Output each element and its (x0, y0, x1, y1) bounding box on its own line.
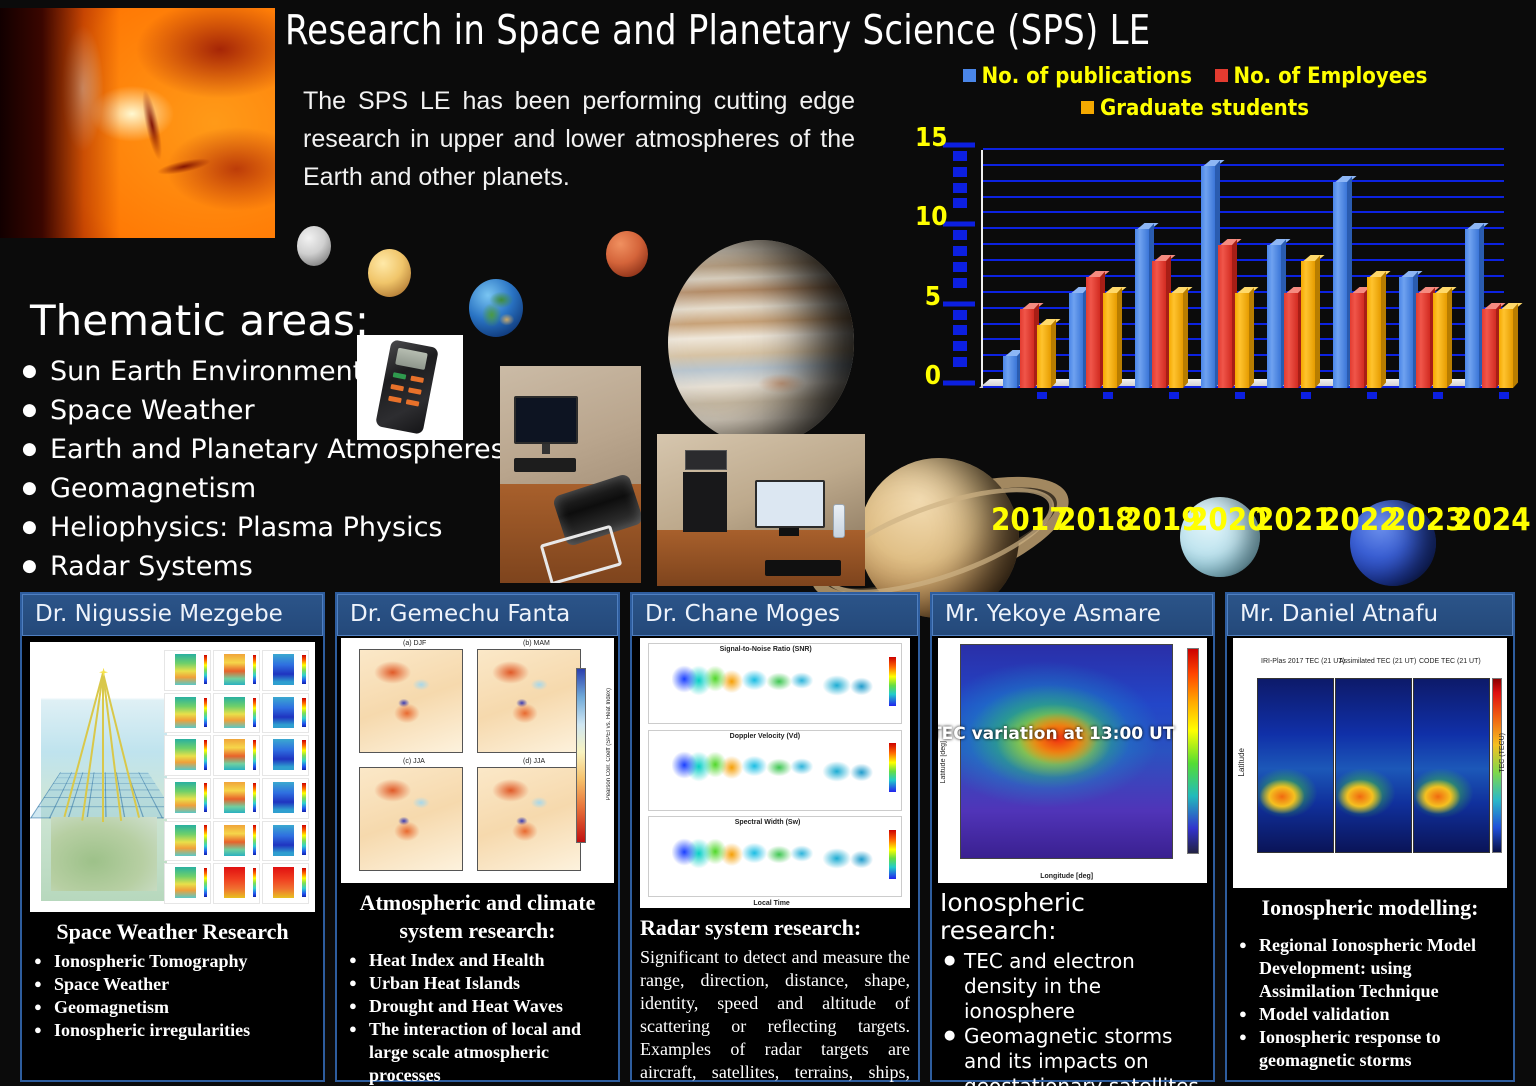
y-axis-tick-label: 5 (915, 282, 941, 312)
venus-image (368, 249, 411, 297)
subplot-title-2: Assimilated TEC (21 UT) (1339, 658, 1416, 665)
list-item: Ionospheric response to geomagnetic stor… (1235, 1026, 1505, 1072)
monitor-stand (779, 528, 799, 536)
scatter-data (672, 743, 878, 792)
bar-group (1003, 303, 1054, 388)
list-item: Regional Ionospheric Model Development: … (1235, 934, 1505, 1003)
tile (164, 735, 211, 776)
monitor-stand (542, 444, 550, 454)
panel-paragraph: Significant to detect and measure the ra… (640, 946, 910, 1086)
colorbar-label: Pearson Corr. Coeff (SPEI vs. Heat Index… (606, 688, 612, 800)
jupiter-image (668, 240, 854, 445)
y-axis-tick-mark (943, 222, 975, 227)
x-axis-label: 2017 (991, 502, 1061, 538)
chart-bars-region (983, 150, 1504, 388)
sun-image (0, 8, 275, 238)
x-axis-tick-mark (1169, 392, 1179, 399)
colorbar (889, 830, 896, 879)
colorbar (889, 743, 896, 792)
panel-body: Space Weather Research Ionospheric Tomog… (22, 912, 323, 1080)
colorbar (1187, 648, 1199, 854)
publications-chart: No. of publications No. of Employees Gra… (865, 62, 1515, 462)
list-item: Urban Heat Islands (345, 972, 610, 995)
figure-xlabel: Longitude [deg] (1040, 873, 1093, 880)
y-axis-tick-mark (943, 143, 975, 148)
intro-paragraph: The SPS LE has been performing cutting e… (303, 82, 855, 196)
figure-caption-d: (d) JJA (523, 758, 545, 765)
figure-caption-b: (b) MAM (523, 640, 550, 647)
radar-subplot-doppler: Doppler Velocity (Vd) (648, 730, 902, 811)
panel-header: Dr. Nigussie Mezgebe (22, 594, 323, 636)
ray-beam (102, 673, 104, 822)
sun-limb (0, 8, 120, 238)
legend-swatch-yellow (1081, 101, 1094, 114)
bar-employees (1416, 287, 1430, 388)
tile (262, 650, 309, 691)
colorbar (889, 657, 896, 706)
keyboard (514, 458, 576, 472)
legend-item-employees: No. of Employees (1215, 62, 1428, 92)
meter-button (393, 372, 407, 379)
panel-body-title: Space Weather Research (30, 918, 315, 946)
bar-employees (1152, 255, 1166, 388)
space-weather-figure (30, 642, 315, 912)
list-item: Geomagnetism (30, 996, 315, 1019)
panel-nigussie-mezgebe[interactable]: Dr. Nigussie Mezgebe (20, 592, 325, 1082)
x-axis-tick-mark (1037, 392, 1047, 399)
tec-map-assimilated (1335, 678, 1412, 853)
lab-instrument-photo (500, 366, 641, 583)
bar-publications (1465, 223, 1479, 388)
africa-map-a (359, 649, 463, 753)
x-axis-tick-mark (1235, 392, 1245, 399)
bar-employees (1020, 303, 1034, 388)
tec-figure: Longitude [deg] Latitude [deg] TEC varia… (938, 638, 1207, 883)
bar-publications (1135, 223, 1149, 388)
panel-chane-moges[interactable]: Dr. Chane Moges Signal-to-Noise Ratio (S… (630, 592, 920, 1082)
panel-body-title: Atmospheric and climate system research: (345, 889, 610, 945)
africa-map-b (477, 649, 581, 753)
y-axis-tick-mark (953, 198, 967, 208)
bar-graduate-students (1169, 287, 1183, 388)
monitor (755, 480, 825, 528)
bar-publications (1069, 287, 1083, 388)
chart-plot-area: 051015 20172018201920202021202220232024 (923, 150, 1508, 412)
tile (213, 863, 260, 904)
panel-gemechu-fanta[interactable]: Dr. Gemechu Fanta (a) DJF (b) MAM (c) JJ… (335, 592, 620, 1082)
tile (262, 778, 309, 819)
bar-group (1333, 176, 1384, 388)
africa-map-c (359, 767, 463, 871)
y-axis-tick-label: 10 (915, 202, 941, 232)
bar-employees (1284, 287, 1298, 388)
y-axis-tick-mark (953, 167, 967, 177)
x-axis-label: 2018 (1057, 502, 1127, 538)
tec-map-code (1413, 678, 1490, 853)
y-axis-tick-mark (953, 310, 967, 320)
chart-legend: No. of publications No. of Employees Gra… (905, 62, 1485, 126)
tomography-grid (30, 772, 178, 818)
x-axis-tick-mark (1301, 392, 1311, 399)
y-axis-tick-mark (953, 246, 967, 256)
list-item: Ionospheric irregularities (30, 1019, 315, 1042)
legend-label: Graduate students (1100, 96, 1309, 121)
subplot-title: Signal-to-Noise Ratio (SNR) (720, 646, 812, 653)
panel-body: Atmospheric and climate system research:… (337, 883, 618, 1086)
tile (164, 778, 211, 819)
keyboard (765, 560, 841, 576)
bar-group (1267, 239, 1318, 388)
tec-overlay-label: TEC variation at 13:00 UT (938, 724, 1174, 744)
workstation-photo (657, 434, 865, 586)
bar-employees (1086, 271, 1100, 388)
bar-graduate-students (1235, 287, 1249, 388)
x-axis-label: 2020 (1189, 502, 1259, 538)
list-item: Geomagnetic storms and its impacts on ge… (940, 1024, 1205, 1086)
y-axis-line (981, 150, 983, 388)
list-item: Ionospheric Tomography (30, 950, 315, 973)
y-axis-tick-mark (943, 381, 975, 386)
bar-employees (1350, 287, 1364, 388)
ionospheric-model-figure: IRI-Plas 2017 TEC (21 UT) Assimilated TE… (1233, 638, 1507, 888)
tile (262, 863, 309, 904)
list-item: Model validation (1235, 1003, 1505, 1026)
y-axis-tick-mark (953, 341, 967, 351)
scatter-data (672, 657, 878, 706)
tile (262, 693, 309, 734)
panel-bullets: Heat Index and Health Urban Heat Islands… (345, 949, 610, 1086)
bar-employees (1218, 239, 1232, 388)
subplot-title: Spectral Width (Sw) (735, 819, 801, 826)
list-item: Heliophysics: Plasma Physics (18, 508, 518, 547)
x-axis-tick-mark (1499, 392, 1509, 399)
electronics-box (685, 450, 727, 470)
gridline (983, 148, 1504, 150)
y-axis-tick-mark (953, 357, 967, 367)
subplot-title: Doppler Velocity (Vd) (730, 733, 800, 740)
meter-button (390, 384, 404, 391)
panel-daniel-atnafu[interactable]: Mr. Daniel Atnafu IRI-Plas 2017 TEC (21 … (1225, 592, 1515, 1082)
page-title: Research in Space and Planetary Science … (285, 6, 1334, 54)
x-axis-label: 2019 (1123, 502, 1193, 538)
meter-button (408, 387, 422, 394)
bar-publications (1399, 271, 1413, 388)
meter-button (388, 396, 402, 403)
list-item: Space Weather (30, 973, 315, 996)
tile (213, 650, 260, 691)
scatter-data (672, 830, 878, 879)
figure-xlabel: Local Time (753, 900, 789, 907)
earth-image (469, 279, 523, 337)
bar-group (1399, 271, 1450, 388)
tec-map-iri (1257, 678, 1334, 853)
y-axis-tick-mark (953, 325, 967, 335)
tomography-diagram (41, 653, 166, 901)
researcher-panels: Dr. Nigussie Mezgebe (20, 592, 1520, 1082)
bar-graduate-students (1103, 287, 1117, 388)
figure-ylabel: Latitude (1237, 748, 1246, 776)
meter-screen (395, 348, 428, 370)
panel-body-title: Ionospheric modelling: (1235, 894, 1505, 922)
colorbar (576, 668, 586, 843)
desk (657, 530, 865, 586)
mars-image (606, 231, 648, 277)
panel-bullets: Ionospheric Tomography Space Weather Geo… (30, 950, 315, 1042)
x-axis-tick-mark (1103, 392, 1113, 399)
panel-body: Ionospheric modelling: Regional Ionosphe… (1227, 888, 1513, 1080)
tile (262, 735, 309, 776)
colorbar-label: TEC (TECU) (1499, 733, 1506, 773)
list-item: The interaction of local and large scale… (345, 1018, 610, 1086)
poster-root: Research in Space and Planetary Science … (0, 0, 1536, 1086)
list-item: Drought and Heat Waves (345, 995, 610, 1018)
tile (262, 821, 309, 862)
subplot-title-1: IRI-Plas 2017 TEC (21 UT) (1261, 658, 1345, 665)
bar-graduate-students (1037, 319, 1051, 388)
panel-yekoye-asmare[interactable]: Mr. Yekoye Asmare Longitude [deg] Latitu… (930, 592, 1215, 1082)
moon-image (297, 226, 331, 266)
sample-vial (833, 504, 845, 538)
list-item: Geomagnetism (18, 469, 518, 508)
bar-employees (1482, 303, 1496, 388)
tile (213, 735, 260, 776)
bar-group (1069, 271, 1120, 388)
tec-map-tiles (164, 650, 309, 904)
panel-bullets: TEC and electron density in the ionosphe… (940, 949, 1205, 1086)
y-axis-tick-label: 0 (915, 361, 941, 391)
y-axis-tick-mark (953, 230, 967, 240)
x-axis-label: 2022 (1321, 502, 1391, 538)
tile (164, 863, 211, 904)
list-item: TEC and electron density in the ionosphe… (940, 949, 1205, 1024)
figure-ylabel: Latitude [deg] (940, 741, 947, 783)
meter-device (375, 339, 439, 435)
panel-bullets: Regional Ionospheric Model Development: … (1235, 934, 1505, 1072)
subplot-title-3: CODE TEC (21 UT) (1419, 658, 1481, 665)
meter-button (406, 399, 420, 406)
y-axis-tick-label: 15 (915, 123, 941, 153)
bar-publications (1003, 350, 1017, 388)
radar-subplot-snr: Signal-to-Noise Ratio (SNR) (648, 643, 902, 724)
bar-group (1135, 223, 1186, 388)
bar-group (1465, 223, 1516, 388)
panel-header: Dr. Gemechu Fanta (337, 594, 618, 636)
africa-map-d (477, 767, 581, 871)
radar-figure: Signal-to-Noise Ratio (SNR) Doppler Velo… (640, 638, 910, 908)
tile (213, 821, 260, 862)
list-item: Radar Systems (18, 547, 518, 586)
y-axis-tick-mark (953, 278, 967, 288)
bar-publications (1333, 176, 1347, 388)
panel-header: Dr. Chane Moges (632, 594, 918, 636)
monitor (514, 396, 578, 444)
bar-graduate-students (1433, 287, 1447, 388)
legend-label: No. of Employees (1234, 64, 1428, 89)
thematic-areas-heading: Thematic areas: (30, 296, 369, 345)
y-axis-tick-mark (943, 301, 975, 306)
x-axis-label: 2023 (1387, 502, 1457, 538)
handheld-meter-photo (357, 335, 463, 440)
tile (213, 778, 260, 819)
legend-swatch-blue (963, 69, 976, 82)
panel-body-title: Radar system research: (640, 914, 910, 942)
x-axis-tick-mark (1367, 392, 1377, 399)
legend-swatch-red (1215, 69, 1228, 82)
y-axis-tick-mark (953, 262, 967, 272)
bar-publications (1201, 160, 1215, 388)
x-axis-tick-mark (1433, 392, 1443, 399)
bar-graduate-students (1301, 255, 1315, 388)
legend-row-2: Graduate students (905, 94, 1485, 126)
bar-graduate-students (1499, 303, 1513, 388)
bar-graduate-students (1367, 271, 1381, 388)
tec-heatmap (961, 645, 1172, 858)
panel-body-title: Ionospheric research: (940, 889, 1205, 945)
tile (164, 821, 211, 862)
tile (213, 693, 260, 734)
computer-tower (683, 472, 727, 532)
y-axis-tick-mark (953, 183, 967, 193)
panel-body: Ionospheric research: TEC and electron d… (932, 883, 1213, 1086)
panel-header: Mr. Yekoye Asmare (932, 594, 1213, 636)
tile (164, 650, 211, 691)
tomography-map (51, 817, 156, 892)
climate-figure: (a) DJF (b) MAM (c) JJA (d) JJA Pearson … (341, 638, 614, 883)
tile (164, 693, 211, 734)
x-axis-label: 2024 (1453, 502, 1523, 538)
legend-item-graduate-students: Graduate students (1081, 94, 1309, 124)
panel-body: Radar system research: Significant to de… (632, 908, 918, 1086)
legend-item-publications: No. of publications (963, 62, 1192, 92)
bar-group (1201, 160, 1252, 388)
panel-header: Mr. Daniel Atnafu (1227, 594, 1513, 636)
radar-subplot-spectral: Spectral Width (Sw) (648, 816, 902, 897)
meter-button (410, 376, 424, 383)
list-item: Heat Index and Health (345, 949, 610, 972)
figure-caption-c: (c) JJA (403, 758, 425, 765)
legend-label: No. of publications (982, 64, 1192, 89)
legend-row-1: No. of publications No. of Employees (905, 62, 1485, 94)
figure-caption-a: (a) DJF (403, 640, 426, 647)
bar-publications (1267, 239, 1281, 388)
x-axis-label: 2021 (1255, 502, 1325, 538)
y-axis-tick-mark (953, 151, 967, 161)
tec-map (960, 644, 1173, 859)
